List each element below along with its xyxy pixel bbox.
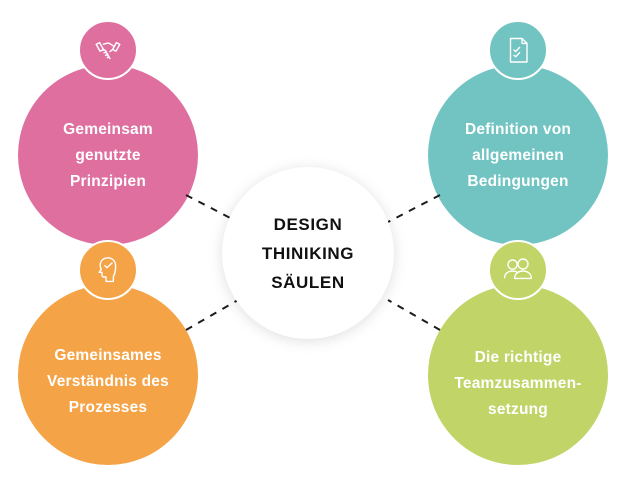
connector-bottom-left <box>186 300 238 330</box>
pillar-general-conditions[interactable]: Definition von allgemeinen Bedingungen <box>428 65 608 245</box>
infographic-canvas: Gemeinsam genutzte Prinzipien Definition… <box>0 0 625 488</box>
document-checklist-icon <box>502 34 534 66</box>
connector-top-right <box>388 195 440 222</box>
connector-bottom-right <box>388 300 440 330</box>
pillar-process-understanding-label: Gemeinsames Verständnis des Prozesses <box>19 343 197 421</box>
pillar-general-conditions-badge[interactable] <box>488 20 548 80</box>
pillar-process-understanding-badge[interactable] <box>78 240 138 300</box>
pillar-shared-principles-label: Gemeinsam genutzte Prinzipien <box>19 117 197 195</box>
pillar-shared-principles-badge[interactable] <box>78 20 138 80</box>
head-check-icon <box>91 253 125 287</box>
center-hub[interactable]: DESIGN THINIKING SÄULEN <box>222 167 394 339</box>
pillar-team-composition-label: Die richtige Teamzusammen- setzung <box>429 345 607 423</box>
pillar-team-composition[interactable]: Die richtige Teamzusammen- setzung <box>428 285 608 465</box>
people-group-icon <box>500 253 536 287</box>
pillar-team-composition-badge[interactable] <box>488 240 548 300</box>
pillar-general-conditions-label: Definition von allgemeinen Bedingungen <box>429 117 607 195</box>
center-hub-title: DESIGN THINIKING SÄULEN <box>262 210 354 297</box>
handshake-icon <box>91 33 125 67</box>
pillar-process-understanding[interactable]: Gemeinsames Verständnis des Prozesses <box>18 285 198 465</box>
pillar-shared-principles[interactable]: Gemeinsam genutzte Prinzipien <box>18 65 198 245</box>
